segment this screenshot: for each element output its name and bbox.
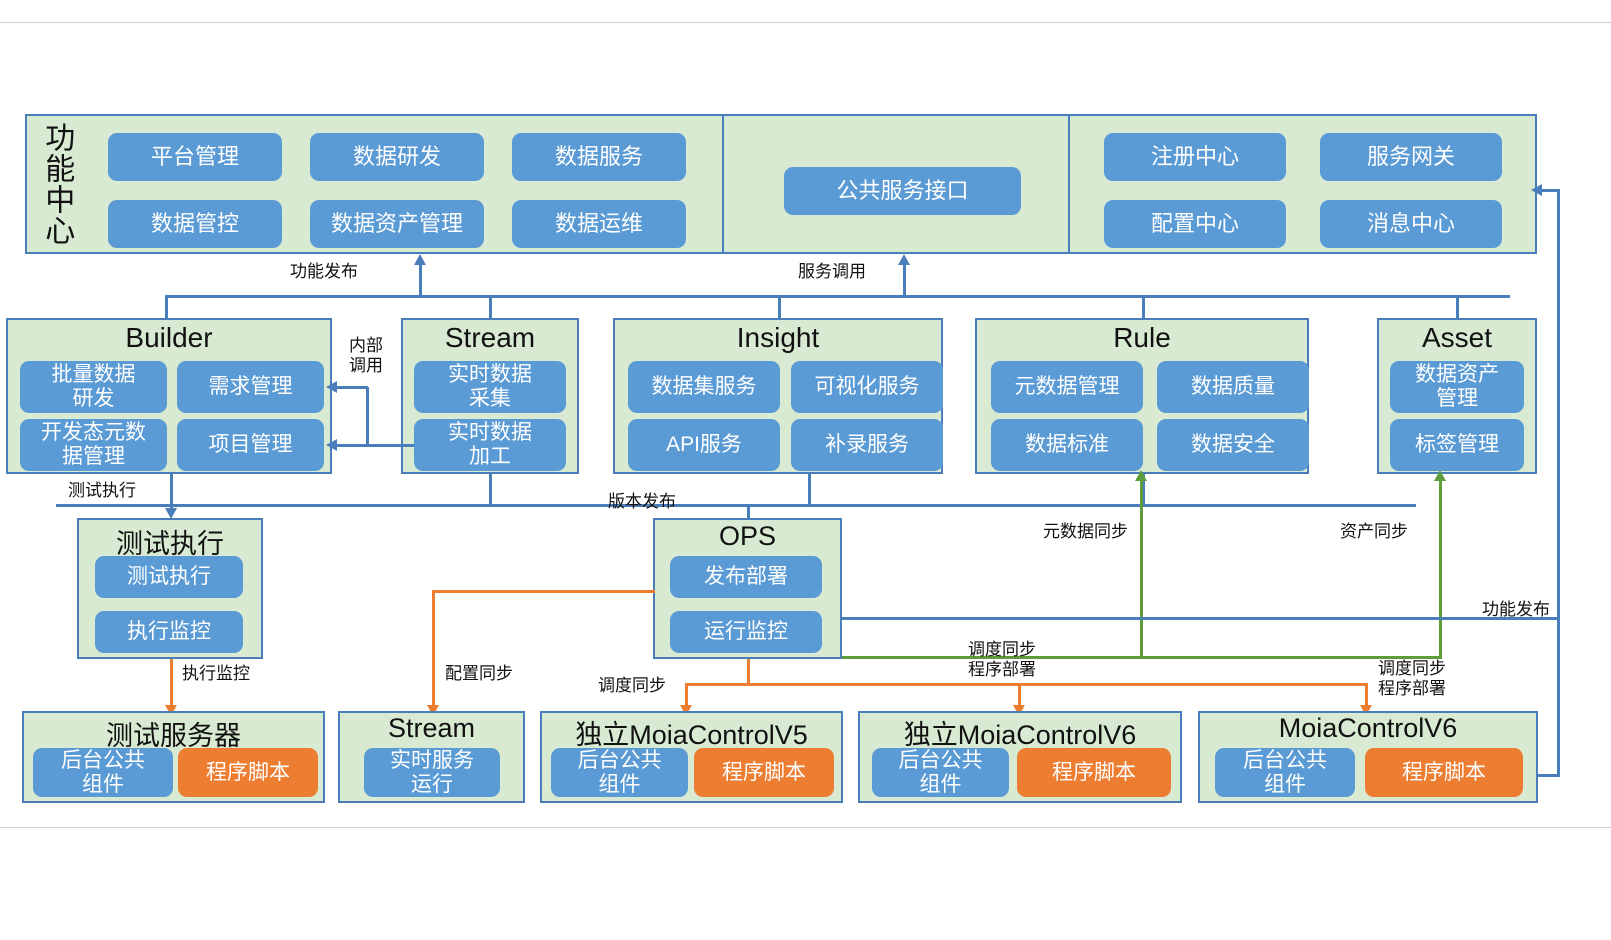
chip-data-security[interactable]: 数据安全: [1157, 419, 1309, 471]
downlink-to-test-exec: [170, 474, 173, 512]
blue-bottom-server-riser: [1557, 617, 1560, 776]
blue-right-riser: [1557, 190, 1560, 619]
top-band-divider-1: [722, 114, 724, 254]
label-function-publish-right: 功能发布: [1440, 600, 1550, 620]
chip-supplement-service[interactable]: 补录服务: [791, 419, 943, 471]
orange-config-drop: [432, 590, 435, 711]
label-metadata-sync: 元数据同步: [1043, 522, 1128, 542]
chip-api-service[interactable]: API服务: [628, 419, 780, 471]
label-function-publish-top: 功能发布: [290, 262, 358, 282]
green-asset-sync-arrow: [1434, 470, 1446, 481]
chip-tag-management[interactable]: 标签管理: [1390, 419, 1524, 471]
function-center-title: 功能中心: [36, 118, 76, 250]
blue-right-arrow: [1531, 184, 1542, 196]
blue-right-into-center: [1540, 189, 1560, 192]
chip-metadata-management[interactable]: 元数据管理: [991, 361, 1143, 413]
chip-service-gateway[interactable]: 服务网关: [1320, 133, 1502, 181]
label-test-execute: 测试执行: [68, 481, 136, 501]
chip-message-center[interactable]: 消息中心: [1320, 200, 1502, 248]
downlink-drop-stream: [489, 474, 492, 505]
uplink-drop-builder: [165, 295, 168, 319]
chip-data-service[interactable]: 数据服务: [512, 133, 686, 181]
label-config-sync: 配置同步: [445, 664, 513, 684]
panel-server-moia-v5-title: 独立MoiaControlV5: [540, 713, 843, 752]
internal-call-riser: [366, 387, 369, 445]
orange-dist-bus: [685, 683, 1368, 686]
chip-public-service-interface[interactable]: 公共服务接口: [784, 167, 1021, 215]
architecture-diagram: 功能中心 平台管理 数据研发 数据服务 数据管控 数据资产管理 数据运维 公共服…: [0, 0, 1611, 940]
green-metadata-sync-arrow: [1135, 470, 1147, 481]
chip-release-deploy[interactable]: 发布部署: [670, 556, 822, 598]
chip-project-management[interactable]: 项目管理: [177, 419, 324, 471]
uplink-drop-stream: [489, 295, 492, 319]
downlink-bus: [56, 504, 1416, 507]
chip-data-operations[interactable]: 数据运维: [512, 200, 686, 248]
internal-call-arrow-top: [326, 381, 337, 393]
chip-stream-realtime-service[interactable]: 实时服务 运行: [364, 748, 500, 797]
label-service-call: 服务调用: [798, 262, 866, 282]
green-metadata-sync-riser: [1140, 478, 1143, 658]
chip-v5-backend-components[interactable]: 后台公共 组件: [551, 748, 688, 797]
uplink-bus: [165, 295, 1510, 298]
label-internal-call: 内部 调用: [338, 336, 394, 376]
chip-v5-program-script[interactable]: 程序脚本: [694, 748, 834, 797]
chip-config-center[interactable]: 配置中心: [1104, 200, 1286, 248]
panel-rule-title: Rule: [975, 322, 1309, 354]
chip-registry-center[interactable]: 注册中心: [1104, 133, 1286, 181]
uplink-arrow-function-publish: [414, 254, 426, 265]
page-frame-bottom: [0, 827, 1611, 828]
chip-visualization-service[interactable]: 可视化服务: [791, 361, 943, 413]
chip-data-asset-management[interactable]: 数据资产管理: [310, 200, 484, 248]
chip-test-backend-components[interactable]: 后台公共 组件: [33, 748, 173, 797]
page-frame-top: [0, 22, 1611, 23]
panel-asset-title: Asset: [1377, 322, 1537, 354]
panel-builder-title: Builder: [6, 322, 332, 354]
chip-test-execution[interactable]: 测试执行: [95, 556, 243, 598]
chip-dataset-service[interactable]: 数据集服务: [628, 361, 780, 413]
chip-v6s-program-script[interactable]: 程序脚本: [1017, 748, 1171, 797]
uplink-riser-service-call: [903, 262, 906, 296]
chip-realtime-data-processing[interactable]: 实时数据 加工: [414, 419, 566, 471]
label-schedule-sync: 调度同步: [598, 676, 666, 696]
internal-call-from-stream: [366, 444, 414, 447]
chip-realtime-data-collection[interactable]: 实时数据 采集: [414, 361, 566, 413]
internal-call-arrow-bottom: [326, 439, 337, 451]
chip-runtime-monitor[interactable]: 运行监控: [670, 611, 822, 653]
orange-test-to-server: [170, 659, 173, 711]
orange-ops-drop: [747, 659, 750, 684]
green-asset-sync-riser: [1439, 478, 1442, 658]
chip-data-asset-mgmt[interactable]: 数据资产 管理: [1390, 361, 1524, 413]
panel-server-moia-v6-title: MoiaControlV6: [1198, 713, 1538, 744]
uplink-drop-insight: [778, 295, 781, 319]
uplink-drop-asset: [1456, 295, 1459, 319]
panel-ops-title: OPS: [653, 521, 842, 552]
chip-dev-metadata-management[interactable]: 开发态元数 据管理: [20, 419, 167, 471]
label-version-publish: 版本发布: [608, 492, 676, 512]
chip-test-program-script[interactable]: 程序脚本: [178, 748, 318, 797]
label-schedule-sync-deploy-right: 调度同步 程序部署: [1378, 659, 1446, 699]
downlink-drop-insight: [808, 474, 811, 505]
orange-config-branch: [432, 590, 655, 593]
panel-server-moia-v6-standalone-title: 独立MoiaControlV6: [858, 713, 1182, 752]
chip-v6s-backend-components[interactable]: 后台公共 组件: [872, 748, 1009, 797]
chip-data-governance[interactable]: 数据管控: [108, 200, 282, 248]
panel-server-stream-title: Stream: [338, 713, 525, 744]
uplink-riser-function-publish: [419, 262, 422, 296]
chip-v6-backend-components[interactable]: 后台公共 组件: [1215, 748, 1355, 797]
uplink-drop-rule: [1142, 295, 1145, 319]
internal-call-branch-top: [335, 386, 368, 389]
panel-stream-title: Stream: [401, 322, 579, 354]
chip-data-development[interactable]: 数据研发: [310, 133, 484, 181]
chip-batch-data-development[interactable]: 批量数据 研发: [20, 361, 167, 413]
panel-insight-title: Insight: [613, 322, 943, 354]
label-execute-monitor: 执行监控: [182, 664, 250, 684]
chip-requirement-management[interactable]: 需求管理: [177, 361, 324, 413]
function-center-title-text: 功能中心: [41, 122, 72, 246]
chip-v6-program-script[interactable]: 程序脚本: [1365, 748, 1523, 797]
uplink-arrow-service-call: [898, 254, 910, 265]
chip-execution-monitor[interactable]: 执行监控: [95, 611, 243, 653]
label-schedule-sync-deploy-mid: 调度同步 程序部署: [968, 640, 1036, 680]
top-band-divider-2: [1068, 114, 1070, 254]
internal-call-branch-bottom: [335, 444, 368, 447]
chip-data-standard[interactable]: 数据标准: [991, 419, 1143, 471]
chip-platform-management[interactable]: 平台管理: [108, 133, 282, 181]
chip-data-quality[interactable]: 数据质量: [1157, 361, 1309, 413]
label-asset-sync: 资产同步: [1340, 522, 1408, 542]
